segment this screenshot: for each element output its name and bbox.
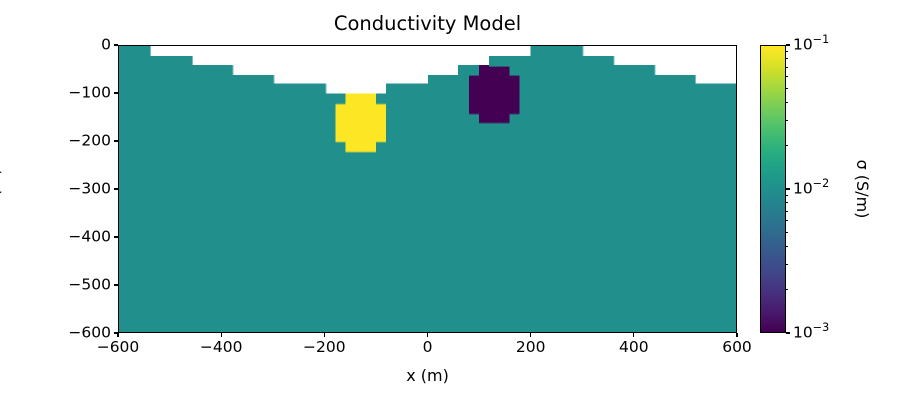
colorbar-minor-tick-mark (786, 102, 788, 103)
colorbar-gradient (761, 46, 785, 332)
colorbar-minor-tick-mark (786, 88, 788, 89)
conductivity-model-image (119, 46, 736, 332)
y-tick-mark (114, 332, 118, 333)
colorbar-minor-tick-mark (786, 202, 788, 203)
y-tick-mark (114, 284, 118, 285)
y-tick-label: −400 (68, 229, 111, 245)
y-tick-label: 0 (101, 37, 111, 53)
x-tick-mark (633, 333, 634, 337)
x-axis-label: x (m) (118, 368, 737, 384)
colorbar-tick-label: 10−3 (793, 325, 829, 341)
colorbar-minor-tick-mark (786, 76, 788, 77)
x-tick-label: 600 (722, 340, 752, 356)
colorbar-minor-tick-mark (786, 145, 788, 146)
x-tick-label: −600 (97, 340, 140, 356)
x-tick-mark (221, 333, 222, 337)
y-tick-label: −500 (68, 277, 111, 293)
y-tick-label: −100 (68, 85, 111, 101)
x-tick-mark (117, 333, 118, 337)
colorbar-minor-tick-mark (786, 289, 788, 290)
y-tick-mark (114, 44, 118, 45)
y-axis-label: z (m) (0, 168, 2, 210)
x-tick-mark (530, 333, 531, 337)
y-tick-mark (114, 92, 118, 93)
colorbar-tick-mark (786, 188, 790, 189)
x-tick-label: −200 (303, 340, 346, 356)
y-tick-label: −600 (68, 325, 111, 341)
colorbar-tick-mark (786, 332, 790, 333)
x-tick-label: 400 (619, 340, 649, 356)
colorbar-tick-label: 10−2 (793, 181, 829, 197)
colorbar-minor-tick-mark (786, 67, 788, 68)
figure-canvas: Conductivity Model −600−400−200020040060… (0, 0, 900, 400)
y-tick-mark (114, 140, 118, 141)
x-tick-mark (736, 333, 737, 337)
colorbar-minor-tick-mark (786, 211, 788, 212)
colorbar-minor-tick-mark (786, 120, 788, 121)
colorbar[interactable] (760, 45, 786, 333)
colorbar-tick-mark (786, 44, 790, 45)
x-tick-mark (427, 333, 428, 337)
y-tick-label: −300 (68, 181, 111, 197)
x-tick-label: −400 (200, 340, 243, 356)
colorbar-minor-tick-mark (786, 232, 788, 233)
y-tick-label: −200 (68, 133, 111, 149)
x-tick-label: 200 (516, 340, 546, 356)
colorbar-label: σ (S/m) (854, 160, 870, 219)
y-tick-mark (114, 236, 118, 237)
colorbar-tick-label: 10−1 (793, 37, 829, 53)
colorbar-minor-tick-mark (786, 264, 788, 265)
page-title: Conductivity Model (118, 14, 737, 34)
colorbar-minor-tick-mark (786, 51, 788, 52)
colorbar-minor-tick-mark (786, 220, 788, 221)
colorbar-minor-tick-mark (786, 195, 788, 196)
y-tick-mark (114, 188, 118, 189)
x-tick-mark (324, 333, 325, 337)
x-tick-label: 0 (423, 340, 433, 356)
colorbar-minor-tick-mark (786, 58, 788, 59)
colorbar-minor-tick-mark (786, 246, 788, 247)
model-image-axes[interactable] (118, 45, 737, 333)
